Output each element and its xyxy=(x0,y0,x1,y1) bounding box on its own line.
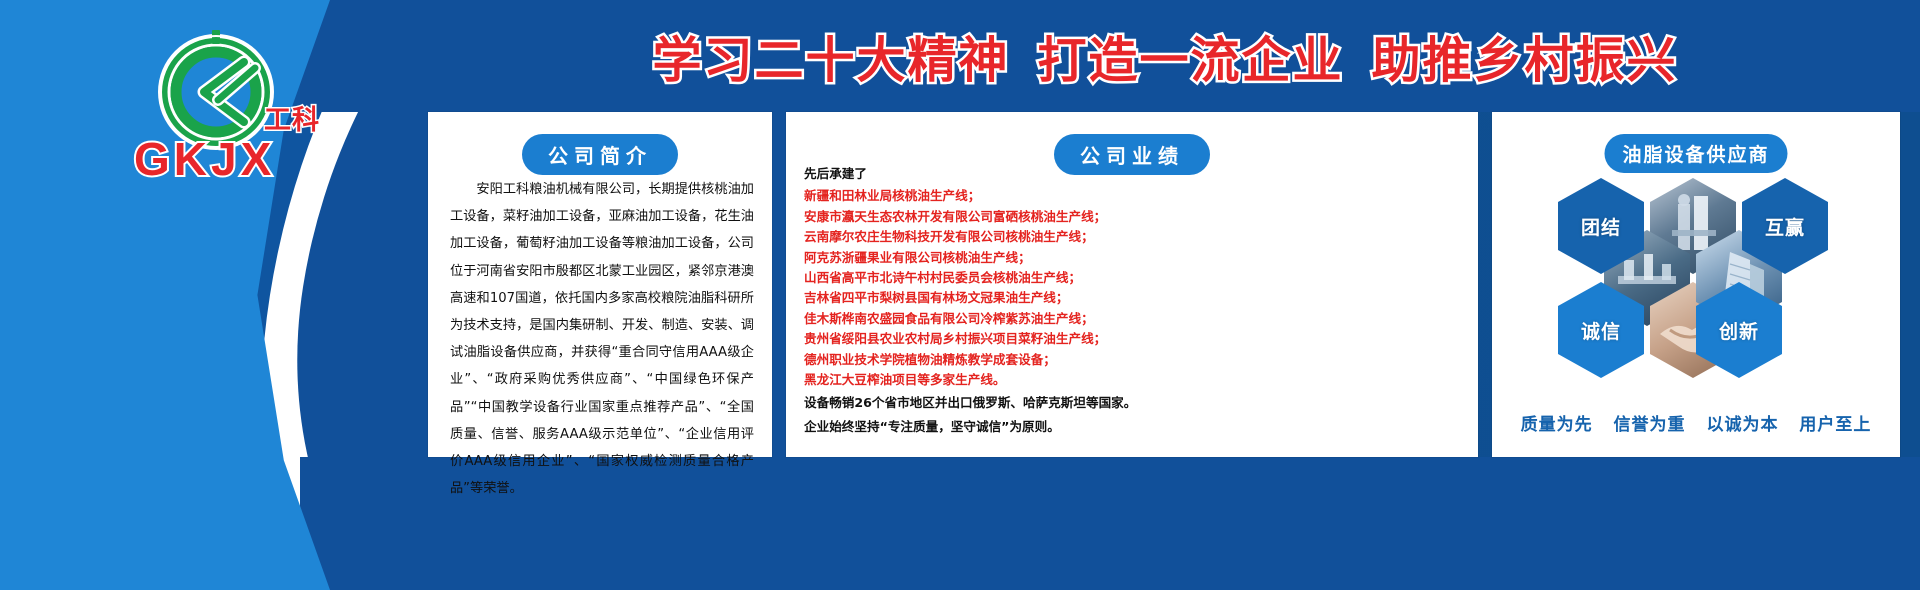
headline-segment-2: 打造一流企业 xyxy=(1037,21,1343,92)
content-cards: 公司简介 安阳工科粮油机械有限公司，长期提供核桃油加工设备，菜籽油加工设备，亚麻… xyxy=(428,112,1900,457)
performance-tail: 企业始终坚持“专注质量，坚守诚信”为原则。 xyxy=(804,417,1466,437)
card-company-intro: 公司简介 安阳工科粮油机械有限公司，长期提供核桃油加工设备，菜籽油加工设备，亚麻… xyxy=(428,112,772,457)
performance-item: 佳木斯桦南农盛园食品有限公司冷榨紫苏油生产线； xyxy=(804,309,1466,329)
page-title: 学习二十大精神 打造一流企业 助推乡村振兴 xyxy=(430,18,1900,94)
slogan-part: 以诚为本 xyxy=(1706,415,1778,435)
hex-label: 团结 xyxy=(1581,213,1621,240)
card-supplier: 油脂设备供应商 xyxy=(1492,112,1900,457)
company-logo: 工科 GKJX xyxy=(116,28,316,218)
slogan-part: 信誉为重 xyxy=(1614,415,1686,435)
hex-label: 诚信 xyxy=(1581,317,1621,344)
headline-segment-3: 助推乡村振兴 xyxy=(1372,21,1678,92)
card-performance-body: 先后承建了 新疆和田林业局核桃油生产线； 安康市瀛天生态农林开发有限公司富硒核桃… xyxy=(804,164,1466,437)
slogan-part: 质量为先 xyxy=(1521,415,1593,435)
performance-item: 德州职业技术学院植物油精炼教学成套设备； xyxy=(804,350,1466,370)
performance-item: 贵州省绥阳县农业农村局乡村振兴项目菜籽油生产线； xyxy=(804,329,1466,349)
performance-item: 黑龙江大豆榨油项目等多家生产线。 xyxy=(804,370,1466,390)
poster-board: 工科 GKJX 学习二十大精神 打造一流企业 助推乡村振兴 公司简介 安阳工科粮… xyxy=(0,0,1920,590)
card-supplier-title: 油脂设备供应商 xyxy=(1604,134,1787,173)
performance-lead: 先后承建了 xyxy=(804,164,1466,184)
performance-item: 云南摩尔农庄生物科技开发有限公司核桃油生产线； xyxy=(804,227,1466,247)
performance-item: 新疆和田林业局核桃油生产线； xyxy=(804,186,1466,206)
slogan-part: 用户至上 xyxy=(1799,415,1871,435)
card-intro-title: 公司简介 xyxy=(522,134,678,175)
card-intro-body: 安阳工科粮油机械有限公司，长期提供核桃油加工设备，菜籽油加工设备，亚麻油加工设备… xyxy=(450,176,754,502)
performance-item: 吉林省四平市梨树县国有林场文冠果油生产线； xyxy=(804,288,1466,308)
card-company-performance: 公司业绩 先后承建了 新疆和田林业局核桃油生产线； 安康市瀛天生态农林开发有限公… xyxy=(786,112,1478,457)
performance-tail: 设备畅销26个省市地区并出口俄罗斯、哈萨克斯坦等国家。 xyxy=(804,393,1466,413)
performance-item: 阿克苏浙疆果业有限公司核桃油生产线； xyxy=(804,248,1466,268)
performance-item: 安康市瀛天生态农林开发有限公司富硒核桃油生产线； xyxy=(804,207,1466,227)
performance-item: 山西省高平市北诗午村村民委员会核桃油生产线； xyxy=(804,268,1466,288)
logo-latin-text: GKJX xyxy=(134,132,275,186)
hex-label: 互赢 xyxy=(1765,213,1805,240)
hex-label: 创新 xyxy=(1719,317,1759,344)
supplier-slogan: 质量为先 信誉为重 以诚为本 用户至上 xyxy=(1492,410,1900,435)
headline-segment-1: 学习二十大精神 xyxy=(652,21,1009,92)
hex-cluster: 团结 互赢 创新 诚信 xyxy=(1492,170,1900,385)
